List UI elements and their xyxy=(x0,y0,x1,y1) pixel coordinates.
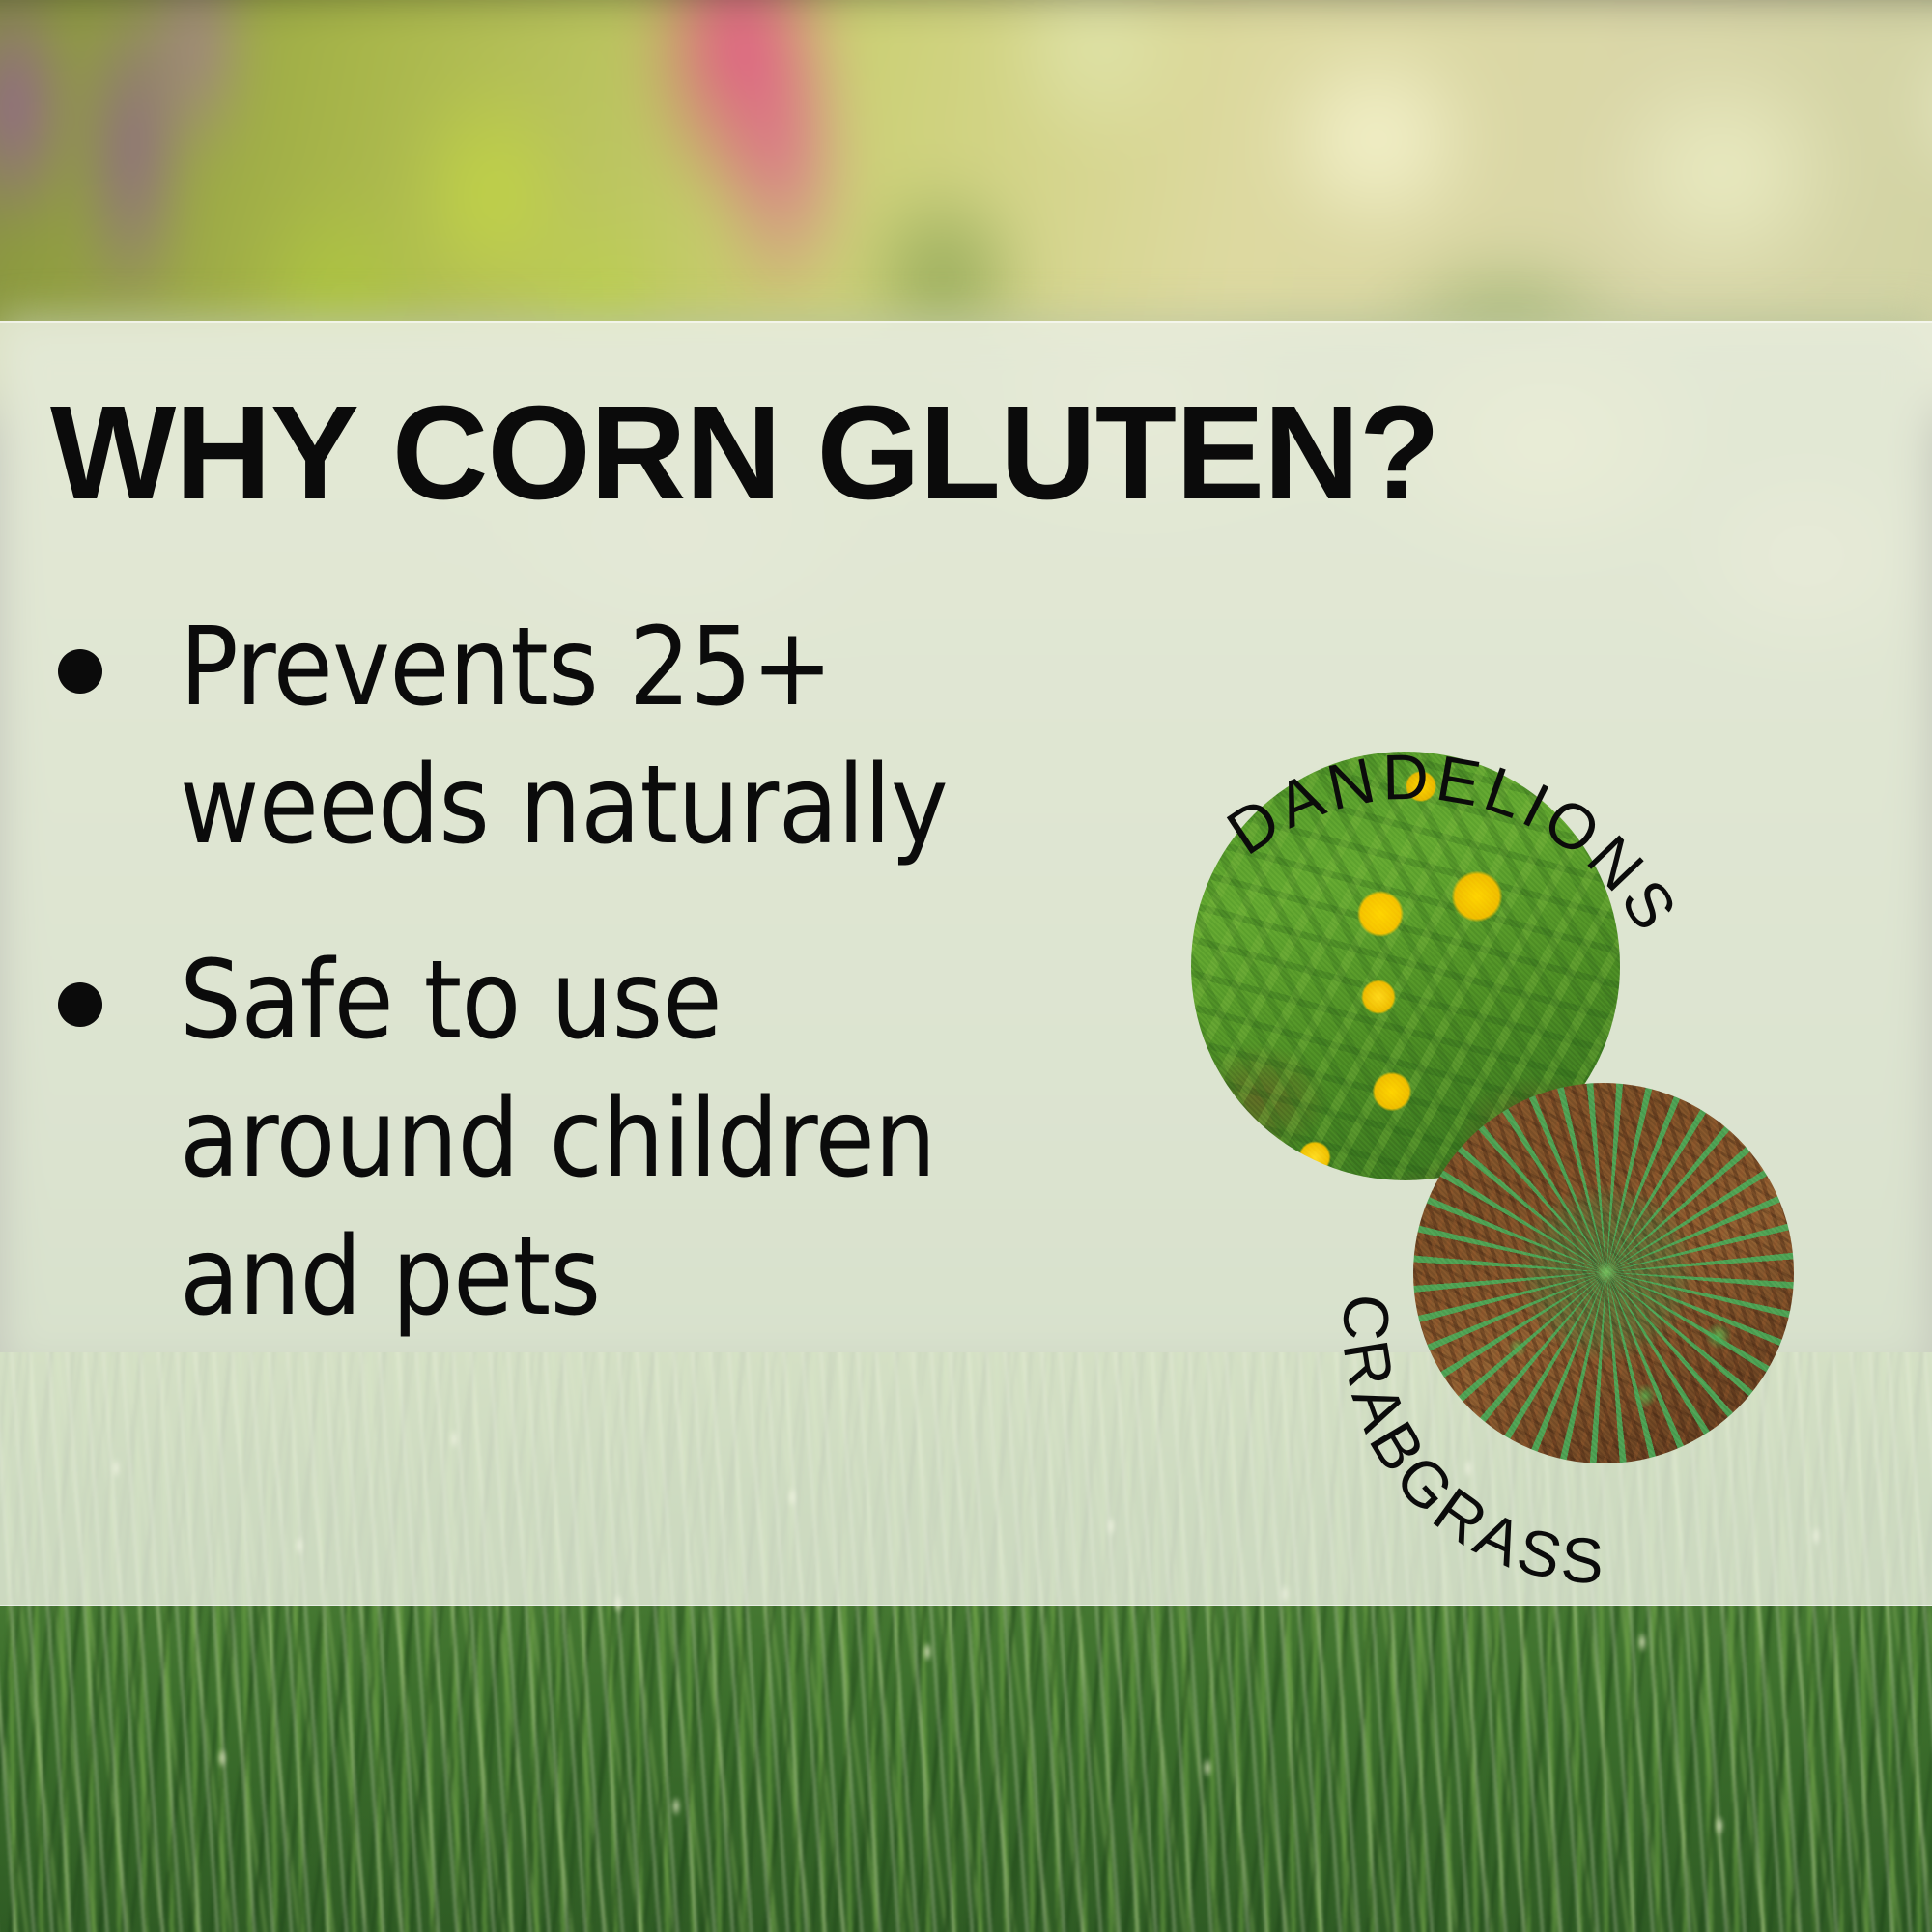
page-title: WHY CORN GLUTEN? xyxy=(50,386,1741,520)
benefit-text-safe-to-use: Safe to use around children and pets xyxy=(180,932,1049,1348)
bullet-dot-icon xyxy=(58,982,102,1027)
photo-grain-overlay xyxy=(1413,1083,1794,1463)
list-item: Safe to use around children and pets xyxy=(58,932,1140,1348)
bullet-dot-icon xyxy=(58,649,102,694)
benefit-text-prevents-weeds: Prevents 25+ weeds naturally xyxy=(180,599,1049,876)
benefits-list: Prevents 25+ weeds naturally Safe to use… xyxy=(58,599,1140,1404)
list-item: Prevents 25+ weeds naturally xyxy=(58,599,1140,876)
infographic-canvas: WHY CORN GLUTEN? Prevents 25+ weeds natu… xyxy=(0,0,1932,1932)
photo-crabgrass xyxy=(1413,1083,1794,1463)
